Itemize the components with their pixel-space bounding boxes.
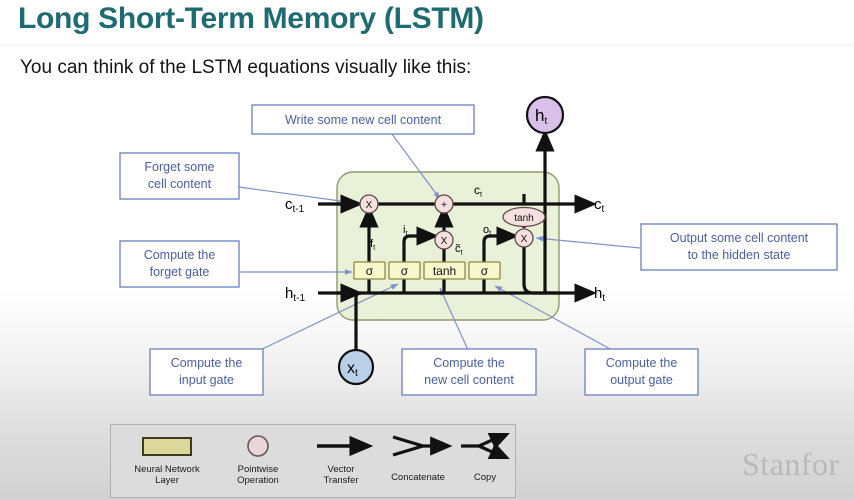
callout-compute-forget-gate-line2: forget gate — [150, 265, 210, 279]
legend-vector-transfer-line2: Transfer — [323, 475, 358, 486]
svg-text:X: X — [521, 234, 528, 245]
svg-text:σ: σ — [366, 264, 374, 278]
gate-new-cell-content: tanh — [424, 262, 465, 279]
legend-pointwise-operation-line1: Pointwise — [238, 464, 279, 475]
copy-icon — [455, 433, 515, 459]
callout-output-to-hidden-state[interactable]: Output some cell content to the hidden s… — [641, 224, 837, 270]
pointwise-op-forget-multiply: X — [360, 195, 378, 213]
callout-compute-input-gate[interactable]: Compute the input gate — [150, 349, 263, 395]
gate-output: σ — [469, 262, 500, 279]
legend-item-vector-transfer: Vector Transfer — [301, 433, 381, 486]
rect-layer-icon — [119, 433, 215, 459]
input-node-x-t: xt — [339, 350, 373, 384]
legend-concatenate-line1: Concatenate — [391, 472, 445, 483]
callout-compute-output-gate-line1: Compute the — [606, 356, 678, 370]
callout-output-to-hidden-state-line1: Output some cell content — [670, 231, 809, 245]
callout-compute-forget-gate-line1: Compute the — [144, 248, 216, 262]
callout-forget-some-cell-content-line1: Forget some — [144, 160, 214, 174]
circle-op-icon — [215, 433, 301, 459]
gate-input: σ — [389, 262, 420, 279]
pointwise-op-output-multiply: X — [515, 229, 533, 247]
legend-neural-network-layer-line2: Layer — [155, 475, 179, 486]
svg-text:X: X — [441, 236, 448, 247]
gate-forget: σ — [354, 262, 385, 279]
legend-vector-transfer-line1: Vector — [328, 464, 355, 475]
stanford-watermark: Stanfor — [742, 446, 840, 483]
callout-compute-new-cell-content[interactable]: Compute the new cell content — [402, 349, 536, 395]
legend-item-neural-network-layer: Neural Network Layer — [119, 433, 215, 486]
svg-text:+: + — [441, 200, 447, 211]
callout-compute-input-gate-line2: input gate — [179, 373, 234, 387]
output-node-h-t: ht — [527, 97, 563, 133]
slide-canvas: Long Short-Term Memory (LSTM) You can th… — [0, 0, 854, 500]
label-h-t-out: ht — [594, 285, 605, 304]
callout-compute-input-gate-line1: Compute the — [171, 356, 243, 370]
callout-compute-new-cell-content-line1: Compute the — [433, 356, 505, 370]
svg-text:σ: σ — [481, 264, 489, 278]
label-c-t-out: ct — [594, 196, 605, 215]
pointwise-op-input-multiply: X — [435, 231, 453, 249]
callout-compute-new-cell-content-line2: new cell content — [424, 373, 514, 387]
svg-text:tanh: tanh — [433, 264, 456, 278]
legend-neural-network-layer-line1: Neural Network — [134, 464, 199, 475]
callout-write-new-cell-content[interactable]: Write some new cell content — [252, 105, 474, 134]
legend-item-copy: Copy — [455, 433, 515, 483]
callout-write-new-cell-content-line1: Write some new cell content — [285, 113, 442, 127]
label-c-prev: ct-1 — [285, 196, 305, 215]
concatenate-icon — [379, 433, 457, 459]
legend-copy-line1: Copy — [474, 472, 496, 483]
callout-forget-some-cell-content[interactable]: Forget some cell content — [120, 153, 239, 199]
svg-text:tanh: tanh — [514, 213, 533, 224]
diagram-legend: Neural Network Layer Pointwise Operation… — [110, 424, 516, 498]
callout-compute-output-gate-line2: output gate — [610, 373, 673, 387]
callout-output-to-hidden-state-line2: to the hidden state — [688, 248, 791, 262]
legend-item-concatenate: Concatenate — [379, 433, 457, 483]
legend-pointwise-operation-line2: Operation — [237, 475, 279, 486]
svg-text:σ: σ — [401, 264, 409, 278]
legend-item-pointwise-operation: Pointwise Operation — [215, 433, 301, 486]
arrow-right-icon — [301, 433, 381, 459]
svg-text:X: X — [366, 200, 373, 211]
callout-compute-output-gate[interactable]: Compute the output gate — [585, 349, 698, 395]
callout-compute-forget-gate[interactable]: Compute the forget gate — [120, 241, 239, 287]
callout-forget-some-cell-content-line2: cell content — [148, 177, 212, 191]
label-h-prev: ht-1 — [285, 285, 305, 304]
pointwise-op-add: + — [435, 195, 453, 213]
pointwise-op-tanh: tanh — [503, 208, 545, 227]
